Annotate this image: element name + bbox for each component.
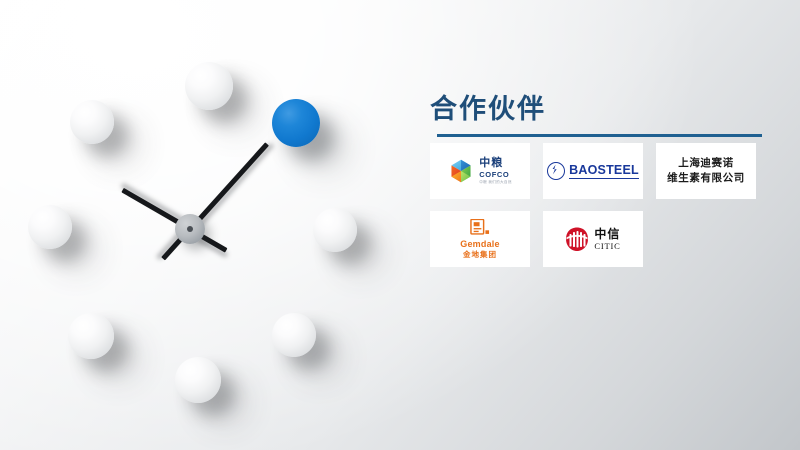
gemdale-name-en: Gemdale — [460, 240, 499, 249]
citic-emblem-icon — [565, 227, 589, 252]
partner-card-citic[interactable]: 中信 CITIC — [543, 211, 643, 267]
clock-hub-cap — [187, 226, 193, 232]
clock-marker-4 — [272, 313, 316, 357]
clock-marker-3 — [313, 208, 357, 252]
slide-root: 合作伙伴 — [0, 0, 800, 450]
cofco-logo: 中粮 COFCO 中粮 我们的大自然 — [448, 158, 511, 185]
cofco-cube-icon — [448, 158, 474, 184]
page-title: 合作伙伴 — [430, 92, 770, 126]
gemdale-logo: Gemdale 金地集团 — [460, 219, 499, 259]
clock-marker-5 — [175, 357, 221, 403]
partner-logo-grid: 中粮 COFCO 中粮 我们的大自然 BAOSTEEL — [430, 143, 770, 267]
clock-marker-7 — [68, 313, 114, 359]
partner-card-disainuo[interactable]: 上海迪赛诺 维生素有限公司 — [656, 143, 756, 199]
clock-marker-9 — [28, 205, 72, 249]
partners-panel: 合作伙伴 — [430, 92, 770, 267]
partner-card-gemdale[interactable]: Gemdale 金地集团 — [430, 211, 530, 267]
citic-name-cn: 中信 — [594, 228, 620, 240]
clock-marker-12 — [185, 62, 233, 110]
wall-clock-decoration — [0, 0, 400, 450]
citic-name-en: CITIC — [594, 242, 620, 251]
section-heading-row: 合作伙伴 — [430, 92, 770, 136]
partner-card-cofco[interactable]: 中粮 COFCO 中粮 我们的大自然 — [430, 143, 530, 199]
clock-marker-11 — [70, 100, 114, 144]
cofco-name-cn: 中粮 — [479, 158, 511, 169]
citic-wordmark: 中信 CITIC — [594, 228, 620, 251]
disainuo-line-1: 上海迪赛诺 — [667, 156, 745, 171]
baosteel-logo: BAOSTEEL — [547, 162, 639, 180]
gemdale-mark-icon — [470, 219, 490, 238]
cofco-wordmark: 中粮 COFCO 中粮 我们的大自然 — [479, 158, 511, 185]
partner-card-baosteel[interactable]: BAOSTEEL — [543, 143, 643, 199]
baosteel-wordmark: BAOSTEEL — [569, 164, 639, 179]
cofco-name-en: COFCO — [479, 171, 511, 179]
clock-marker-1 — [272, 99, 320, 147]
baosteel-emblem-icon — [547, 162, 565, 180]
disainuo-line-2: 维生素有限公司 — [667, 171, 745, 186]
cofco-tagline: 中粮 我们的大自然 — [479, 181, 511, 185]
disainuo-logo: 上海迪赛诺 维生素有限公司 — [667, 156, 745, 186]
citic-logo: 中信 CITIC — [565, 227, 620, 252]
gemdale-name-cn: 金地集团 — [460, 251, 499, 259]
title-divider — [437, 134, 762, 137]
